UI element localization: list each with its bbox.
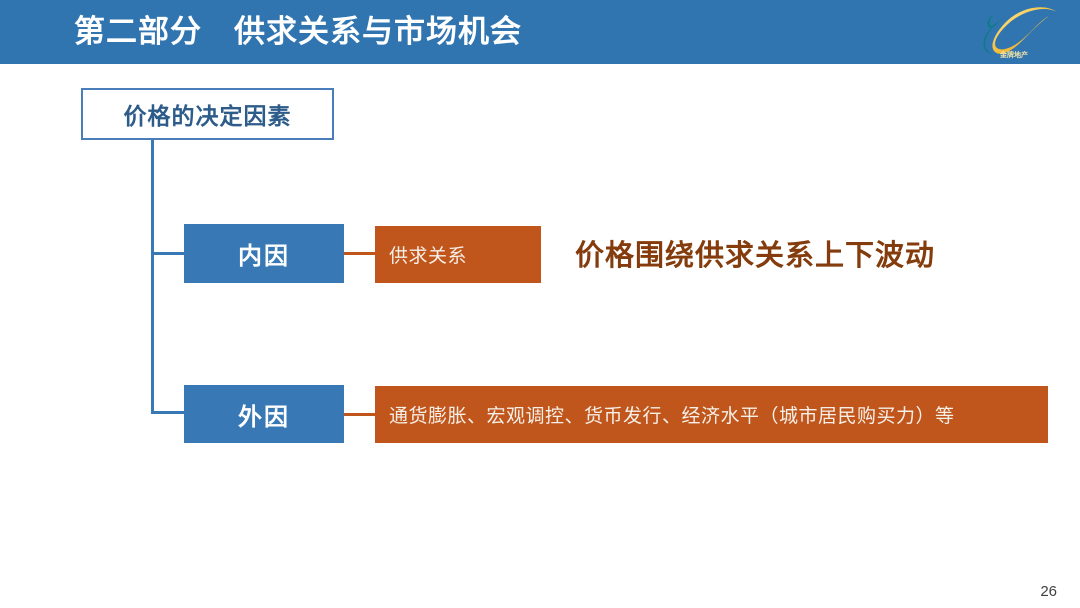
svg-text:金牌地产: 金牌地产: [999, 50, 1028, 59]
connector-trunk-vertical: [151, 140, 154, 413]
node-external-factors-label: 通货膨胀、宏观调控、货币发行、经济水平（城市居民购买力）等: [389, 401, 955, 428]
emphasis-statement: 价格围绕供求关系上下波动: [575, 232, 935, 274]
page-number: 26: [1040, 583, 1057, 600]
price-factors-diagram: 价格的决定因素 内因 供求关系 外因 通货膨胀、宏观调控、货币发行、经济水平（城…: [0, 64, 1080, 608]
node-external-factors[interactable]: 通货膨胀、宏观调控、货币发行、经济水平（城市居民购买力）等: [375, 386, 1048, 443]
connector-outer-to-detail: [344, 413, 377, 416]
connector-root-stub: [151, 140, 154, 146]
page-title: 第二部分 供求关系与市场机会: [74, 11, 522, 53]
node-price-determining-factors[interactable]: 价格的决定因素: [81, 88, 334, 140]
connector-inner-to-detail: [344, 252, 377, 255]
company-swoosh-logo: 金牌地产: [964, 2, 1064, 62]
node-price-determining-factors-label: 价格的决定因素: [124, 97, 292, 131]
node-outer-cause-label: 外因: [238, 397, 290, 432]
connector-branch-inner: [151, 252, 186, 255]
connector-branch-outer: [151, 411, 186, 414]
node-inner-cause[interactable]: 内因: [184, 224, 344, 283]
node-inner-cause-label: 内因: [238, 236, 290, 271]
node-supply-demand[interactable]: 供求关系: [375, 226, 541, 283]
node-outer-cause[interactable]: 外因: [184, 385, 344, 443]
node-supply-demand-label: 供求关系: [389, 241, 467, 268]
